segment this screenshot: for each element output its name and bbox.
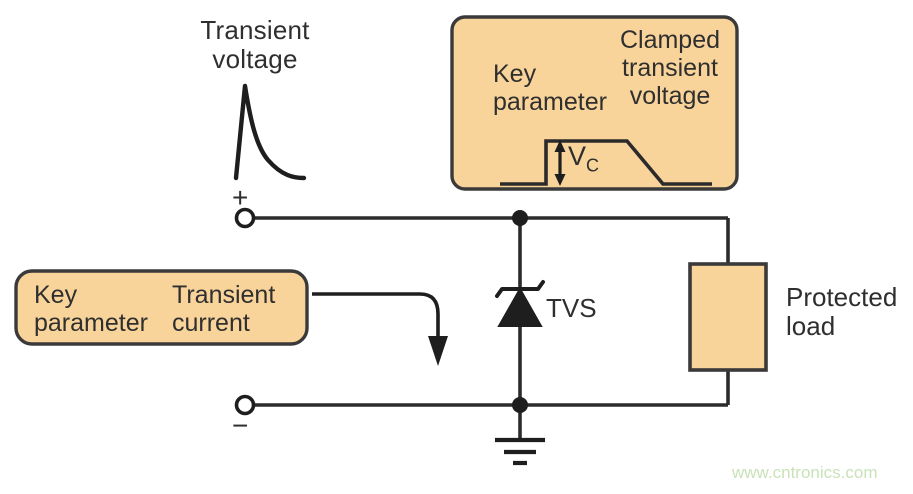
tvs-zener-diode-symbol — [497, 282, 543, 326]
transient-spike-waveform — [236, 86, 304, 178]
diagram-canvas — [0, 0, 913, 494]
current-key-parameter-label: Key parameter — [34, 281, 164, 337]
tvs-label: TVS — [546, 294, 597, 323]
junction-node-bottom — [512, 397, 528, 413]
circuit-wires — [252, 218, 728, 438]
junction-node-top — [512, 210, 528, 226]
positive-terminal-label: + — [232, 182, 248, 213]
clamped-transient-voltage-label: Clamped transient voltage — [600, 26, 740, 110]
transient-current-arrow — [312, 294, 448, 366]
watermark-text: www.cntronics.com — [732, 463, 877, 482]
protected-load-box — [690, 264, 766, 370]
transient-voltage-caption: Transient voltage — [150, 16, 360, 74]
circuit-diagram-root: Transient voltage + − Key parameter Clam… — [0, 0, 913, 494]
vc-label: VC — [568, 141, 599, 176]
protected-load-label: Protected load — [786, 283, 906, 341]
ground-symbol — [495, 440, 545, 463]
vc-symbol: V — [568, 141, 586, 171]
vc-subscript: C — [586, 155, 599, 175]
negative-terminal-label: − — [232, 410, 248, 441]
transient-current-label: Transient current — [172, 281, 307, 337]
